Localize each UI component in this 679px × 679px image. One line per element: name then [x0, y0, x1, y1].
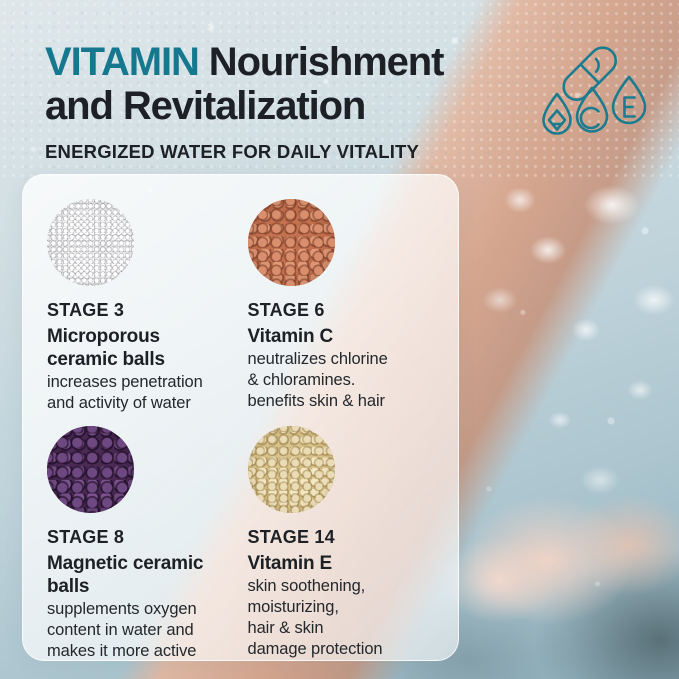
stage-name-line: Vitamin E: [248, 552, 441, 575]
microporous-ceramic-balls-image: [47, 199, 134, 286]
stage-label: STAGE 6: [248, 298, 441, 322]
stage-description: supplements oxygen content in water and …: [47, 599, 240, 662]
stage-desc-line: neutralizes chlorine: [248, 349, 441, 370]
stage-desc-line: moisturizing,: [248, 597, 441, 618]
stage-desc-line: benefits skin & hair: [248, 391, 441, 412]
stage-description: skin soothening, moisturizing, hair & sk…: [248, 576, 441, 660]
stage-name: Microporous ceramic balls: [47, 325, 240, 371]
stage-name-line: Microporous: [47, 325, 240, 348]
stage-label: STAGE 14: [248, 525, 441, 549]
stage-desc-line: skin soothening,: [248, 576, 441, 597]
magnetic-ceramic-balls-image: [47, 426, 134, 513]
stage-name-line: balls: [47, 575, 240, 598]
stage-name: Vitamin C: [248, 325, 441, 348]
stage-block-8: STAGE 8 Magnetic ceramic balls supplemen…: [47, 426, 240, 662]
title-highlight-word: VITAMIN: [45, 40, 199, 84]
stage-description: neutralizes chlorine & chloramines. bene…: [248, 349, 441, 412]
stages-card: STAGE 3 Microporous ceramic balls increa…: [22, 174, 459, 661]
stage-desc-line: & chloramines.: [248, 370, 441, 391]
vitamin-icons-svg: [541, 44, 661, 140]
letter-e-glyph: [625, 98, 635, 117]
stage-desc-line: hair & skin: [248, 618, 441, 639]
water-drop-vitamin-e-icon: [613, 77, 645, 123]
stage-name: Vitamin E: [248, 552, 441, 575]
vitamin-e-balls-image: [248, 426, 335, 513]
stage-desc-line: damage protection: [248, 639, 441, 660]
letter-c-glyph: [581, 108, 599, 128]
stage-desc-line: increases penetration: [47, 372, 240, 393]
water-drop-vitamin-c-icon: [577, 88, 607, 132]
title-rest: Nourishment: [199, 40, 444, 84]
stage-block-3: STAGE 3 Microporous ceramic balls increa…: [47, 199, 240, 414]
stage-block-6: STAGE 6 Vitamin C neutralizes chlorine &…: [248, 199, 441, 414]
stage-name-line: Vitamin C: [248, 325, 441, 348]
stage-block-14: STAGE 14 Vitamin E skin soothening, mois…: [248, 426, 441, 662]
stage-desc-line: makes it more active: [47, 641, 240, 662]
vitamin-c-balls-image: [248, 199, 335, 286]
stage-desc-line: content in water and: [47, 620, 240, 641]
stage-desc-line: supplements oxygen: [47, 599, 240, 620]
page-subtitle: ENERGIZED WATER FOR DAILY VITALITY: [45, 141, 679, 163]
stage-name-line: ceramic balls: [47, 348, 240, 371]
water-drop-vitamin-a-icon: [544, 94, 571, 134]
stage-label: STAGE 3: [47, 298, 240, 322]
stage-name-line: Magnetic ceramic: [47, 552, 240, 575]
stage-description: increases penetration and activity of wa…: [47, 372, 240, 414]
stage-label: STAGE 8: [47, 525, 240, 549]
stage-desc-line: and activity of water: [47, 393, 240, 414]
vitamin-icon-cluster: [541, 44, 661, 140]
stage-name: Magnetic ceramic balls: [47, 552, 240, 598]
